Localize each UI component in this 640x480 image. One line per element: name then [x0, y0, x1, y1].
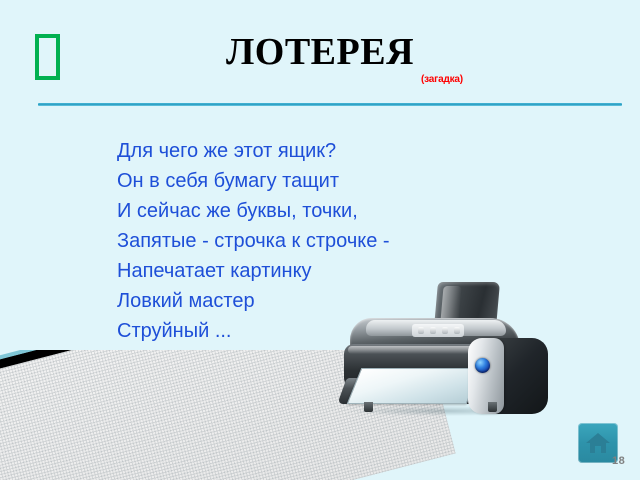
printer-feed-highlight	[440, 286, 461, 322]
riddle-line: Запятые - строчка к строчке -	[117, 226, 537, 256]
printer-panel-button	[442, 327, 448, 334]
slide-canvas: ЛОТЕРЕЯ (загадка) Для чего же этот ящик?…	[0, 0, 640, 480]
title-annotation: (загадка)	[421, 74, 463, 85]
deco-black-stripe	[0, 350, 379, 376]
page-title: ЛОТЕРЕЯ	[0, 28, 640, 76]
printer-foot	[364, 402, 373, 412]
riddle-line: Он в себя бумагу тащит	[117, 166, 537, 196]
riddle-line: И сейчас же буквы, точки,	[117, 196, 537, 226]
printer-illustration	[338, 282, 568, 427]
printer-power-button-icon	[475, 358, 490, 373]
printer-panel-button	[454, 327, 460, 334]
title-divider	[38, 103, 622, 106]
printer-side-panel	[468, 338, 504, 414]
riddle-line: Для чего же этот ящик?	[117, 136, 537, 166]
printer-paper-sheet	[347, 368, 482, 404]
home-icon	[585, 431, 611, 455]
slide-number: 18	[612, 455, 638, 467]
printer-foot	[488, 402, 497, 412]
printer-panel-button	[418, 327, 424, 334]
printer-panel-button	[430, 327, 436, 334]
deco-teal-stripe	[0, 350, 378, 367]
title-row: ЛОТЕРЕЯ (загадка)	[0, 28, 640, 84]
